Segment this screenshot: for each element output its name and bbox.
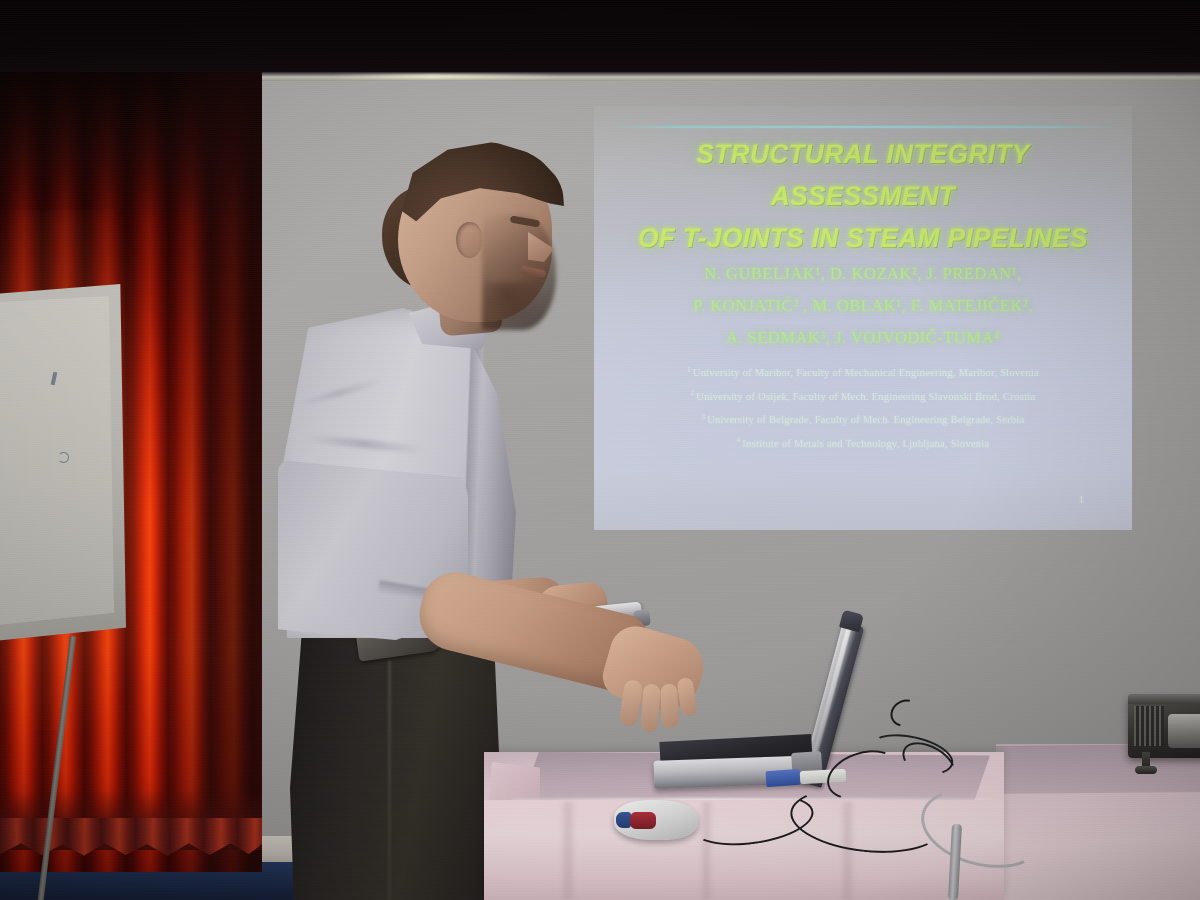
slide-affiliation-item: 3University of Belgrade, Faculty of Mech… (594, 409, 1132, 433)
slide-author-list: N. GUBELJAK¹, D. KOZAK², J. PREDAN¹, P. … (594, 258, 1132, 355)
mouse-red-accent (630, 812, 656, 829)
projector-top (1128, 694, 1200, 704)
wall-rail-highlight (330, 74, 560, 79)
slide-page-number: 1 (1079, 494, 1085, 506)
ceiling (0, 0, 1200, 82)
presenter-trousers (290, 620, 502, 900)
slide-author-line: P. KONJATIĆ² , M. OBLAK¹, F. MATEJIČEK², (594, 290, 1132, 322)
mouse-blue-accent (616, 812, 631, 828)
affiliation-marker: 2 (690, 389, 694, 397)
usb-connector-blue (765, 769, 800, 787)
curtain-right-shadow (168, 72, 262, 872)
affiliation-text: University of Osijek, Faculty of Mech. E… (696, 392, 1035, 403)
projector-vent-grille (1134, 706, 1164, 746)
slide-title-line-2: OF T-JOINTS IN STEAM PIPELINES (602, 218, 1124, 260)
slide-title-line-1: STRUCTURAL INTEGRITY ASSESSMENT (602, 134, 1124, 218)
slide-author-line: N. GUBELJAK¹, D. KOZAK², J. PREDAN¹, (594, 258, 1132, 290)
tablecloth-fold (560, 802, 576, 900)
flipchart-scribble (58, 452, 69, 463)
affiliation-marker: 1 (687, 366, 691, 374)
ear (456, 222, 482, 258)
chin-shadow (484, 282, 542, 326)
slide-affiliation-item: 2University of Osijek, Faculty of Mech. … (594, 386, 1132, 410)
projector-lens-barrel (1168, 714, 1200, 748)
slide-title: STRUCTURAL INTEGRITY ASSESSMENT OF T-JOI… (602, 134, 1124, 260)
affiliation-text: Institute of Metals and Technology, Ljub… (742, 439, 989, 450)
slide-affiliation-item: 1University of Maribor, Faculty of Mecha… (594, 362, 1132, 386)
slide-author-line: A. SEDMAK³, J. VOJVODIČ-TUMA⁴ (594, 322, 1132, 354)
affiliation-text: University of Belgrade, Faculty of Mech.… (707, 415, 1024, 426)
flipchart-surface (0, 296, 114, 626)
slide-affiliation-list: 1University of Maribor, Faculty of Mecha… (594, 362, 1132, 457)
affiliation-marker: 3 (701, 413, 705, 421)
slide-affiliation-item: 4Institute of Metals and Technology, Lju… (594, 433, 1132, 457)
trouser-crease (388, 660, 391, 900)
finger (640, 683, 660, 732)
projector-foot-pad (1135, 766, 1157, 774)
affiliation-text: University of Maribor, Faculty of Mechan… (693, 368, 1039, 379)
finger (660, 684, 679, 729)
projected-slide: STRUCTURAL INTEGRITY ASSESSMENT OF T-JOI… (594, 106, 1132, 530)
affiliation-marker: 4 (737, 436, 741, 444)
presentation-photo: STRUCTURAL INTEGRITY ASSESSMENT OF T-JOI… (0, 0, 1200, 900)
flipchart-whiteboard (0, 284, 134, 684)
slide-divider-rule (608, 126, 1118, 128)
